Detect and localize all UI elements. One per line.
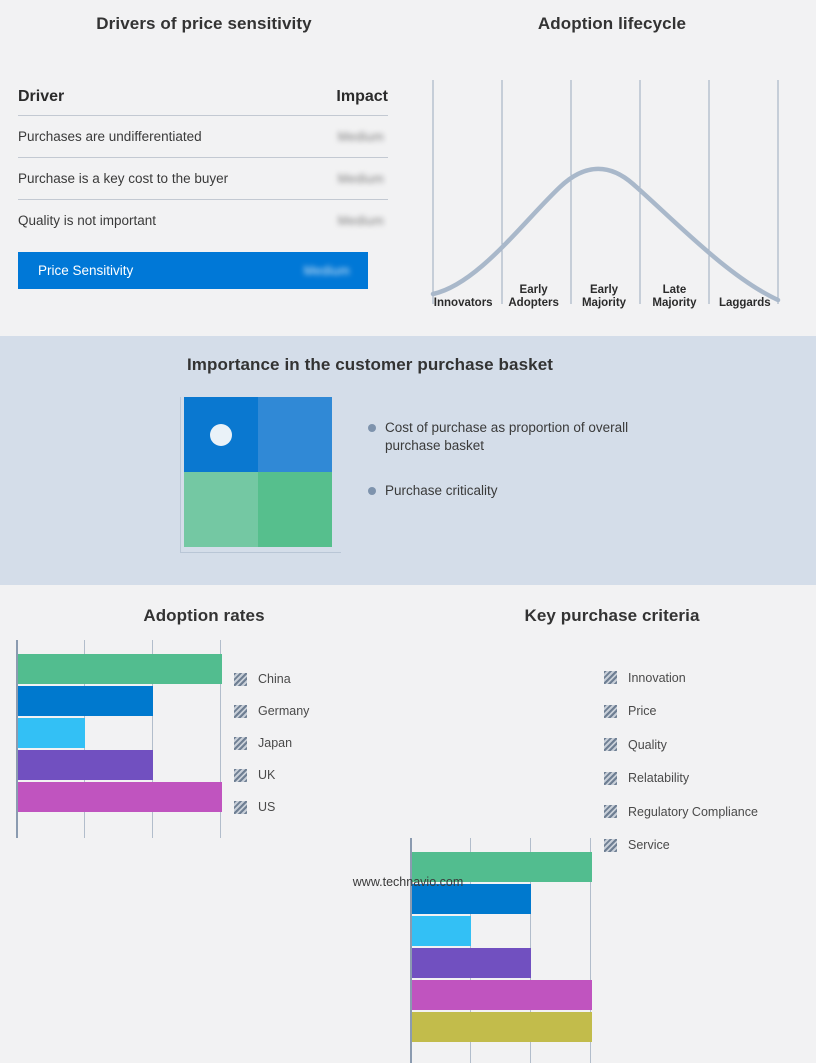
drivers-table: Driver Impact Purchases are undifferenti… — [18, 88, 388, 289]
bar — [412, 948, 531, 978]
position-marker-dot — [210, 424, 232, 446]
legend-item: Relatability — [604, 762, 814, 796]
legend-label: Regulatory Compliance — [628, 805, 758, 819]
bar-series — [18, 640, 222, 838]
legend-label: Quality — [628, 738, 667, 752]
highlight-impact-value: Medium — [304, 264, 350, 278]
bar — [18, 718, 85, 748]
hatched-swatch-icon — [234, 737, 247, 750]
quadrant-top-right — [258, 397, 332, 472]
legend-item: US — [234, 791, 374, 823]
table-row: Purchases are undifferentiated Medium — [18, 116, 388, 157]
impact-value: Medium — [338, 130, 384, 144]
column-header-driver: Driver — [18, 88, 298, 106]
bullet-icon — [368, 424, 376, 432]
legend-label: Germany — [258, 704, 309, 718]
quadrant-bottom-left — [184, 472, 258, 547]
legend-label: US — [258, 800, 275, 814]
hatched-swatch-icon — [234, 801, 247, 814]
stage-label-laggards: Laggards — [710, 297, 780, 312]
legend-item: Germany — [234, 695, 374, 727]
table-row: Quality is not important Medium — [18, 200, 388, 241]
hatched-swatch-icon — [234, 673, 247, 686]
legend-item: Price — [604, 695, 814, 729]
impact-value-cell: Medium — [294, 170, 388, 188]
hatched-swatch-icon — [234, 705, 247, 718]
price-sensitivity-highlight-row: Price Sensitivity Medium — [18, 252, 368, 289]
highlight-impact-cell: Medium — [260, 262, 354, 280]
driver-name: Purchases are undifferentiated — [18, 129, 294, 144]
legend-label: Cost of purchase as proportion of overal… — [385, 419, 635, 455]
stage-divider-lines — [433, 80, 778, 304]
adoption-stage-labels: Innovators Early Adopters Early Majority… — [428, 272, 780, 312]
legend-label: Japan — [258, 736, 292, 750]
driver-name: Purchase is a key cost to the buyer — [18, 171, 294, 186]
adoption-rates-title: Adoption rates — [0, 606, 408, 626]
highlight-row-label: Price Sensitivity — [38, 263, 260, 278]
purchase-basket-matrix — [180, 397, 350, 559]
bar — [412, 980, 592, 1010]
hatched-swatch-icon — [604, 839, 617, 852]
legend-item: China — [234, 663, 374, 695]
legend-label: Service — [628, 838, 670, 852]
legend-item: Quality — [604, 728, 814, 762]
drivers-table-header: Driver Impact — [18, 88, 388, 115]
legend-item: Cost of purchase as proportion of overal… — [368, 419, 668, 455]
hatched-swatch-icon — [604, 671, 617, 684]
basket-legend: Cost of purchase as proportion of overal… — [368, 419, 668, 527]
legend-label: Innovation — [628, 671, 686, 685]
stage-label-late-majority: Late Majority — [639, 284, 709, 312]
driver-name: Quality is not important — [18, 213, 294, 228]
quadrant-bottom-right — [258, 472, 332, 547]
legend-item: Regulatory Compliance — [604, 795, 814, 829]
legend-label: Purchase criticality — [385, 482, 498, 500]
legend-item: Japan — [234, 727, 374, 759]
adoption-rates-panel: Adoption rates — [0, 606, 408, 626]
bullet-icon — [368, 487, 376, 495]
legend-label: Price — [628, 704, 656, 718]
key-criteria-panel: Key purchase criteria — [408, 606, 816, 626]
basket-panel: Importance in the customer purchase bask… — [0, 355, 740, 375]
drivers-panel-title: Drivers of price sensitivity — [0, 14, 408, 34]
hatched-swatch-icon — [604, 772, 617, 785]
legend-item: Purchase criticality — [368, 482, 668, 500]
impact-value: Medium — [338, 172, 384, 186]
matrix-quadrants — [184, 397, 332, 547]
hatched-swatch-icon — [604, 705, 617, 718]
adoption-lifecycle-title: Adoption lifecycle — [408, 14, 816, 34]
impact-value-cell: Medium — [294, 212, 388, 230]
adoption-rates-legend: ChinaGermanyJapanUKUS — [234, 663, 374, 823]
key-criteria-title: Key purchase criteria — [408, 606, 816, 626]
impact-value: Medium — [338, 214, 384, 228]
legend-label: Relatability — [628, 771, 689, 785]
hatched-swatch-icon — [234, 769, 247, 782]
bar — [412, 1012, 592, 1042]
bar-series — [412, 838, 592, 1063]
adoption-lifecycle-panel: Adoption lifecycle — [408, 14, 816, 34]
bar — [18, 686, 153, 716]
footer-url: www.technavio.com — [0, 875, 816, 889]
hatched-swatch-icon — [604, 805, 617, 818]
stage-label-innovators: Innovators — [428, 297, 498, 312]
key-criteria-legend: InnovationPriceQualityRelatabilityRegula… — [604, 661, 814, 862]
stage-label-early-majority: Early Majority — [569, 284, 639, 312]
legend-item: UK — [234, 759, 374, 791]
bar — [18, 782, 222, 812]
column-header-impact: Impact — [298, 88, 388, 106]
stage-label-early-adopters: Early Adopters — [498, 284, 568, 312]
adoption-rates-chart — [16, 640, 222, 838]
table-row: Purchase is a key cost to the buyer Medi… — [18, 158, 388, 199]
bar — [18, 654, 222, 684]
legend-label: China — [258, 672, 291, 686]
basket-panel-title: Importance in the customer purchase bask… — [0, 355, 740, 375]
quadrant-top-left — [184, 397, 258, 472]
impact-value-cell: Medium — [294, 128, 388, 146]
key-criteria-chart — [410, 838, 592, 1063]
drivers-panel: Drivers of price sensitivity — [0, 14, 408, 34]
hatched-swatch-icon — [604, 738, 617, 751]
bar — [18, 750, 153, 780]
legend-item: Service — [604, 829, 814, 863]
bar — [412, 916, 471, 946]
legend-item: Innovation — [604, 661, 814, 695]
legend-label: UK — [258, 768, 275, 782]
